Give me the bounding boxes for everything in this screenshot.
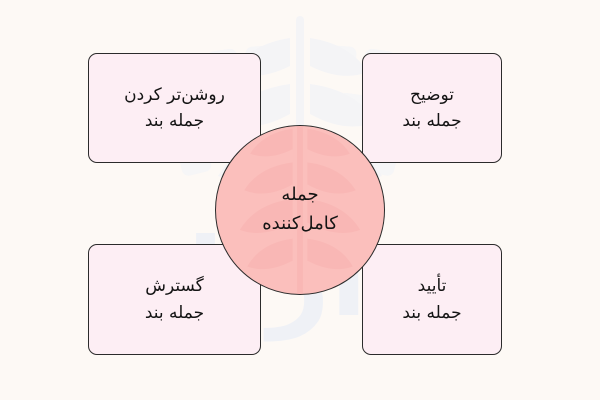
node-label-line-2: جمله بند [145,108,204,134]
node-label-line-1: گسترش [145,273,204,299]
center-label-line-1: جمله [281,181,318,210]
center-circle-node[interactable]: جمله کامل‌کننده [215,125,385,295]
node-label-line-1: تأیید [418,273,447,299]
node-label-line-2: جمله بند [145,300,204,326]
center-label-line-2: کامل‌کننده [262,210,338,239]
node-label-line-2: جمله بند [402,300,461,326]
node-label-line-1: روشن‌تر کردن [124,82,225,108]
diagram-canvas: فرازبان [0,0,600,400]
node-label-line-1: توضیح [410,82,454,108]
node-label-line-2: جمله بند [402,108,461,134]
